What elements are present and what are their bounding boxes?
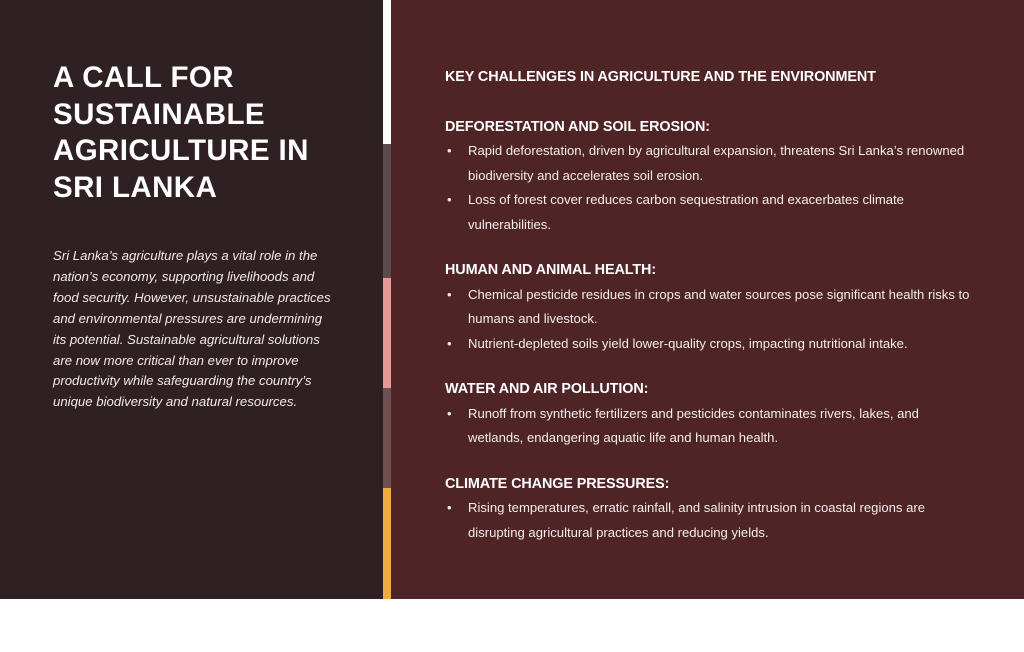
footer-bar: 4 © 2024 Microbebio - All Rights Reserve… — [0, 599, 1024, 652]
bullet-list: •Rapid deforestation, driven by agricult… — [445, 139, 970, 237]
challenge-section: HUMAN AND ANIMAL HEALTH:•Chemical pestic… — [445, 259, 970, 356]
bullet-text: Loss of forest cover reduces carbon sequ… — [468, 192, 904, 232]
bullet-item: •Chemical pesticide residues in crops an… — [445, 283, 970, 332]
accent-segment-orange — [383, 488, 391, 599]
bullet-dot-icon: • — [447, 139, 452, 164]
bullet-text: Runoff from synthetic fertilizers and pe… — [468, 406, 919, 446]
bullet-dot-icon: • — [447, 283, 452, 308]
bullet-dot-icon: • — [447, 188, 452, 213]
section-heading: DEFORESTATION AND SOIL EROSION: — [445, 116, 970, 139]
bullet-item: •Rising temperatures, erratic rainfall, … — [445, 496, 970, 545]
intro-paragraph: Sri Lanka’s agriculture plays a vital ro… — [53, 246, 331, 413]
section-heading: CLIMATE CHANGE PRESSURES: — [445, 473, 970, 496]
challenge-section: CLIMATE CHANGE PRESSURES:•Rising tempera… — [445, 473, 970, 546]
main-heading: KEY CHALLENGES IN AGRICULTURE AND THE EN… — [445, 66, 970, 89]
bullet-item: •Runoff from synthetic fertilizers and p… — [445, 402, 970, 451]
section-heading: WATER AND AIR POLLUTION: — [445, 378, 970, 401]
bullet-text: Rising temperatures, erratic rainfall, a… — [468, 500, 925, 540]
bullet-item: •Rapid deforestation, driven by agricult… — [445, 139, 970, 188]
bullet-dot-icon: • — [447, 402, 452, 427]
bullet-item: •Loss of forest cover reduces carbon seq… — [445, 188, 970, 237]
challenge-section: DEFORESTATION AND SOIL EROSION:•Rapid de… — [445, 116, 970, 238]
bullet-text: Rapid deforestation, driven by agricultu… — [468, 143, 964, 183]
accent-segment-white — [383, 0, 391, 144]
sections-list: DEFORESTATION AND SOIL EROSION:•Rapid de… — [445, 116, 970, 546]
content-column: KEY CHALLENGES IN AGRICULTURE AND THE EN… — [445, 66, 970, 545]
accent-segment-mauve — [383, 388, 391, 488]
bullet-dot-icon: • — [447, 496, 452, 521]
page-title: A CALL FOR SUSTAINABLE AGRICULTURE IN SR… — [53, 60, 353, 206]
challenge-section: WATER AND AIR POLLUTION:•Runoff from syn… — [445, 378, 970, 451]
slide-page: A CALL FOR SUSTAINABLE AGRICULTURE IN SR… — [0, 0, 1024, 652]
bullet-text: Nutrient-depleted soils yield lower-qual… — [468, 336, 908, 351]
bullet-text: Chemical pesticide residues in crops and… — [468, 287, 969, 327]
bullet-item: •Nutrient-depleted soils yield lower-qua… — [445, 332, 970, 357]
slide-body: A CALL FOR SUSTAINABLE AGRICULTURE IN SR… — [0, 0, 1024, 599]
accent-segment-pink — [383, 278, 391, 388]
bullet-list: •Rising temperatures, erratic rainfall, … — [445, 496, 970, 545]
section-heading: HUMAN AND ANIMAL HEALTH: — [445, 259, 970, 282]
bullet-list: •Chemical pesticide residues in crops an… — [445, 283, 970, 357]
bullet-list: •Runoff from synthetic fertilizers and p… — [445, 402, 970, 451]
accent-segment-gray — [383, 144, 391, 278]
bullet-dot-icon: • — [447, 332, 452, 357]
accent-strip — [383, 0, 391, 599]
